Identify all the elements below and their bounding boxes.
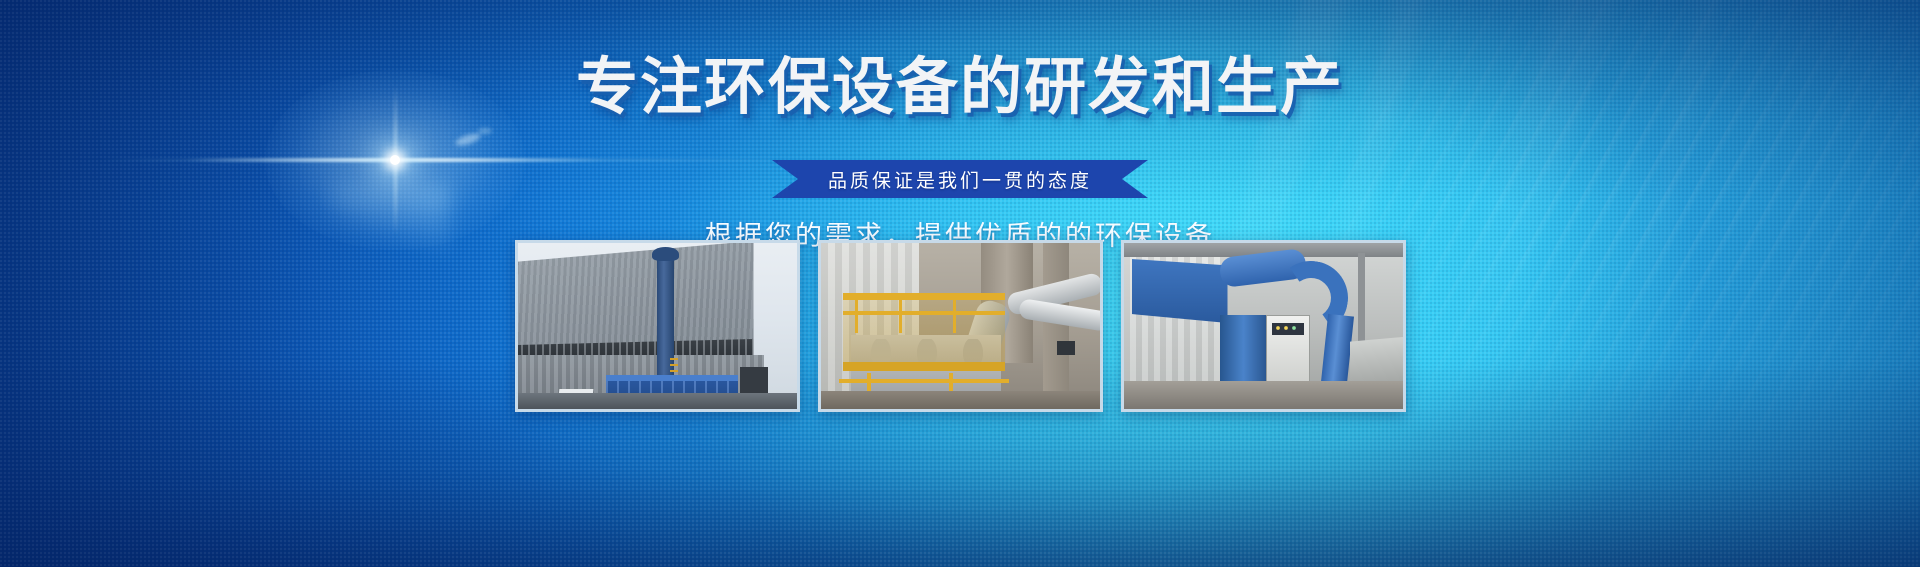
photo-strip xyxy=(0,240,1920,412)
hero-banner: 专注环保设备的研发和生产 品质保证是我们一贯的态度 根据您的需求，提供优质的的环… xyxy=(0,0,1920,567)
photo-factory-exterior xyxy=(515,240,800,412)
photo-cyclone-cabinet xyxy=(1121,240,1406,412)
photo-scrubber-platform xyxy=(818,240,1103,412)
lens-flare-ghost-small-icon xyxy=(478,128,492,134)
ribbon-label: 品质保证是我们一贯的态度 xyxy=(828,166,1092,193)
ribbon-container: 品质保证是我们一贯的态度 xyxy=(0,160,1920,198)
banner-headline: 专注环保设备的研发和生产 xyxy=(0,57,1920,119)
ribbon-badge: 品质保证是我们一贯的态度 xyxy=(772,160,1148,198)
